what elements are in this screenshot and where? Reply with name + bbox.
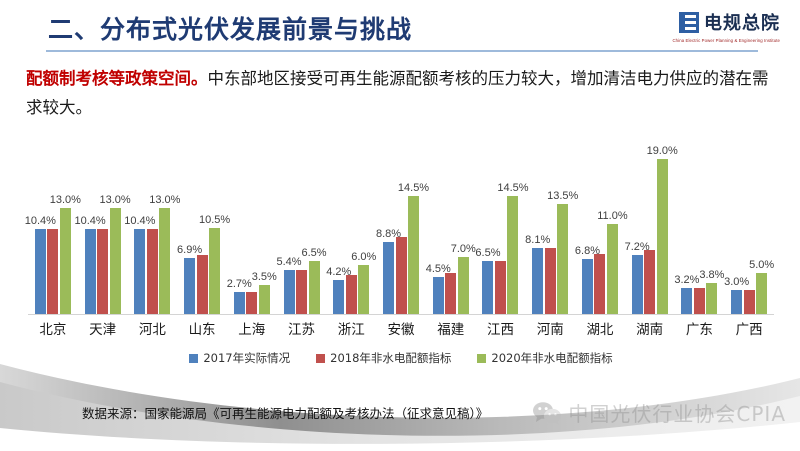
bar-data-label: 5.4% [276, 256, 301, 268]
bar-江苏-2018年非水电配额指标 [296, 270, 307, 314]
bar-data-label: 2.7% [227, 278, 252, 290]
bar-天津-2018年非水电配额指标 [97, 229, 108, 314]
body-paragraph: 配额制考核等政策空间。中东部地区接受可再生能源配额考核的压力较大，增加清洁电力供… [26, 64, 778, 122]
bar-group: 6.5%14.5% [476, 150, 526, 314]
category-label-上海: 上海 [227, 318, 277, 340]
bar-江西-2020年非水电配额指标: 14.5% [507, 196, 518, 314]
bar-group: 6.9%10.5% [177, 150, 227, 314]
bar-湖北-2020年非水电配额指标: 11.0% [607, 224, 618, 314]
bar-河北-2020年非水电配额指标: 13.0% [159, 208, 170, 314]
bar-data-label: 14.5% [497, 182, 528, 194]
bar-group: 4.2%6.0% [326, 150, 376, 314]
category-label-江苏: 江苏 [277, 318, 327, 340]
bar-湖北-2018年非水电配额指标 [594, 254, 605, 314]
bar-data-label: 3.0% [724, 276, 749, 288]
category-label-湖南: 湖南 [625, 318, 675, 340]
bar-上海-2020年非水电配额指标: 3.5% [259, 285, 270, 314]
bar-广西-2018年非水电配额指标 [744, 290, 755, 314]
category-label-山东: 山东 [177, 318, 227, 340]
bar-data-label: 6.5% [301, 247, 326, 259]
bar-data-label: 3.2% [674, 274, 699, 286]
bar-chart: 10.4%13.0%10.4%13.0%10.4%13.0%6.9%10.5%2… [22, 150, 780, 365]
bar-上海-2017年实际情况: 2.7% [234, 292, 245, 314]
bar-江苏-2020年非水电配额指标: 6.5% [309, 261, 320, 314]
bar-group: 8.1%13.5% [525, 150, 575, 314]
bar-浙江-2018年非水电配额指标 [346, 275, 357, 314]
logo-mark-icon [679, 12, 699, 33]
category-label-浙江: 浙江 [326, 318, 376, 340]
bar-group: 6.8%11.0% [575, 150, 625, 314]
bar-北京-2018年非水电配额指标 [47, 229, 58, 314]
bar-安徽-2020年非水电配额指标: 14.5% [408, 196, 419, 314]
bar-福建-2018年非水电配额指标 [445, 273, 456, 314]
category-label-福建: 福建 [426, 318, 476, 340]
category-label-江西: 江西 [476, 318, 526, 340]
bar-北京-2020年非水电配额指标: 13.0% [60, 208, 71, 314]
bar-group: 4.5%7.0% [426, 150, 476, 314]
bar-广东-2018年非水电配额指标 [694, 288, 705, 314]
bar-data-label: 7.0% [451, 243, 476, 255]
bar-山东-2017年实际情况: 6.9% [184, 258, 195, 314]
bar-data-label: 11.0% [597, 210, 627, 222]
bar-group: 10.4%13.0% [127, 150, 177, 314]
category-label-河南: 河南 [525, 318, 575, 340]
bar-广西-2017年实际情况: 3.0% [731, 290, 742, 314]
bar-data-label: 6.5% [475, 247, 500, 259]
bar-江苏-2017年实际情况: 5.4% [284, 270, 295, 314]
bar-group: 10.4%13.0% [28, 150, 78, 314]
bar-湖南-2020年非水电配额指标: 19.0% [657, 159, 668, 314]
chart-bar-groups: 10.4%13.0%10.4%13.0%10.4%13.0%6.9%10.5%2… [28, 150, 774, 314]
chart-category-axis: 北京天津河北山东上海江苏浙江安徽福建江西河南湖北湖南广东广西 [28, 318, 774, 340]
bar-江西-2017年实际情况: 6.5% [482, 261, 493, 314]
bar-湖南-2018年非水电配额指标 [644, 250, 655, 314]
bar-group: 7.2%19.0% [625, 150, 675, 314]
bar-山东-2018年非水电配额指标 [197, 255, 208, 314]
bar-山东-2020年非水电配额指标: 10.5% [209, 228, 220, 314]
logo-english-name: China Electric Power Planning & Engineer… [632, 38, 780, 43]
bar-安徽-2018年非水电配额指标 [396, 237, 407, 314]
chart-axis-line [28, 314, 774, 315]
bar-上海-2018年非水电配额指标 [246, 292, 257, 314]
slide: 二、分布式光伏发展前景与挑战 电规总院 China Electric Power… [0, 0, 800, 451]
bar-河北-2017年实际情况: 10.4% [134, 229, 145, 314]
chart-plot-area: 10.4%13.0%10.4%13.0%10.4%13.0%6.9%10.5%2… [28, 150, 774, 315]
bar-江西-2018年非水电配额指标 [495, 261, 506, 314]
page-title: 二、分布式光伏发展前景与挑战 [48, 10, 412, 46]
bar-data-label: 10.4% [124, 215, 155, 227]
category-label-广西: 广西 [724, 318, 774, 340]
bar-data-label: 10.5% [199, 214, 230, 226]
bar-浙江-2020年非水电配额指标: 6.0% [358, 265, 369, 314]
bar-河北-2018年非水电配额指标 [147, 229, 158, 314]
watermark: 中国光伏行业协会CPIA [532, 398, 786, 427]
bar-广东-2020年非水电配额指标: 3.8% [706, 283, 717, 314]
bar-data-label: 6.0% [351, 251, 376, 263]
footer-decoration: 数据来源：国家能源局《可再生能源电力配额及考核办法（征求意见稿）》 中国光伏行业… [0, 356, 800, 451]
bar-安徽-2017年实际情况: 8.8% [383, 242, 394, 314]
bar-广西-2020年非水电配额指标: 5.0% [756, 273, 767, 314]
category-label-广东: 广东 [675, 318, 725, 340]
watermark-text: 中国光伏行业协会CPIA [568, 398, 786, 427]
bar-data-label: 3.5% [252, 271, 277, 283]
bar-data-label: 13.0% [99, 194, 130, 206]
bar-河南-2017年实际情况: 8.1% [532, 248, 543, 314]
bar-广东-2017年实际情况: 3.2% [681, 288, 692, 314]
institute-logo: 电规总院 China Electric Power Planning & Eng… [632, 9, 780, 49]
logo-chinese-name: 电规总院 [704, 9, 780, 35]
category-label-北京: 北京 [28, 318, 78, 340]
title-divider [46, 50, 758, 52]
bar-data-label: 10.4% [74, 215, 105, 227]
bar-湖南-2017年实际情况: 7.2% [632, 255, 643, 314]
bar-河南-2018年非水电配额指标 [545, 248, 556, 314]
bar-天津-2017年实际情况: 10.4% [85, 229, 96, 314]
category-label-安徽: 安徽 [376, 318, 426, 340]
bar-data-label: 13.0% [149, 194, 180, 206]
bar-河南-2020年非水电配额指标: 13.5% [557, 204, 568, 314]
bar-data-label: 8.1% [525, 234, 550, 246]
bar-福建-2017年实际情况: 4.5% [433, 277, 444, 314]
bar-data-label: 10.4% [25, 215, 56, 227]
category-label-河北: 河北 [127, 318, 177, 340]
bar-group: 5.4%6.5% [277, 150, 327, 314]
category-label-湖北: 湖北 [575, 318, 625, 340]
bar-data-label: 5.0% [749, 259, 774, 271]
source-note: 数据来源：国家能源局《可再生能源电力配额及考核办法（征求意见稿）》 [82, 403, 488, 422]
bar-福建-2020年非水电配额指标: 7.0% [458, 257, 469, 314]
bar-北京-2017年实际情况: 10.4% [35, 229, 46, 314]
bar-data-label: 19.0% [647, 145, 678, 157]
slide-header: 二、分布式光伏发展前景与挑战 电规总院 China Electric Power… [0, 0, 800, 56]
bar-湖北-2017年实际情况: 6.8% [582, 259, 593, 314]
bar-group: 10.4%13.0% [78, 150, 128, 314]
wechat-icon [532, 401, 562, 425]
bar-天津-2020年非水电配额指标: 13.0% [110, 208, 121, 314]
body-highlight: 配额制考核等政策空间。 [26, 69, 208, 88]
category-label-天津: 天津 [78, 318, 128, 340]
bar-data-label: 14.5% [398, 182, 429, 194]
bar-group: 8.8%14.5% [376, 150, 426, 314]
bar-浙江-2017年实际情况: 4.2% [333, 280, 344, 314]
bar-data-label: 13.5% [547, 190, 578, 202]
bar-group: 3.0%5.0% [724, 150, 774, 314]
bar-group: 2.7%3.5% [227, 150, 277, 314]
bar-data-label: 3.8% [699, 269, 724, 281]
bar-data-label: 13.0% [50, 194, 81, 206]
bar-group: 3.2%3.8% [675, 150, 725, 314]
